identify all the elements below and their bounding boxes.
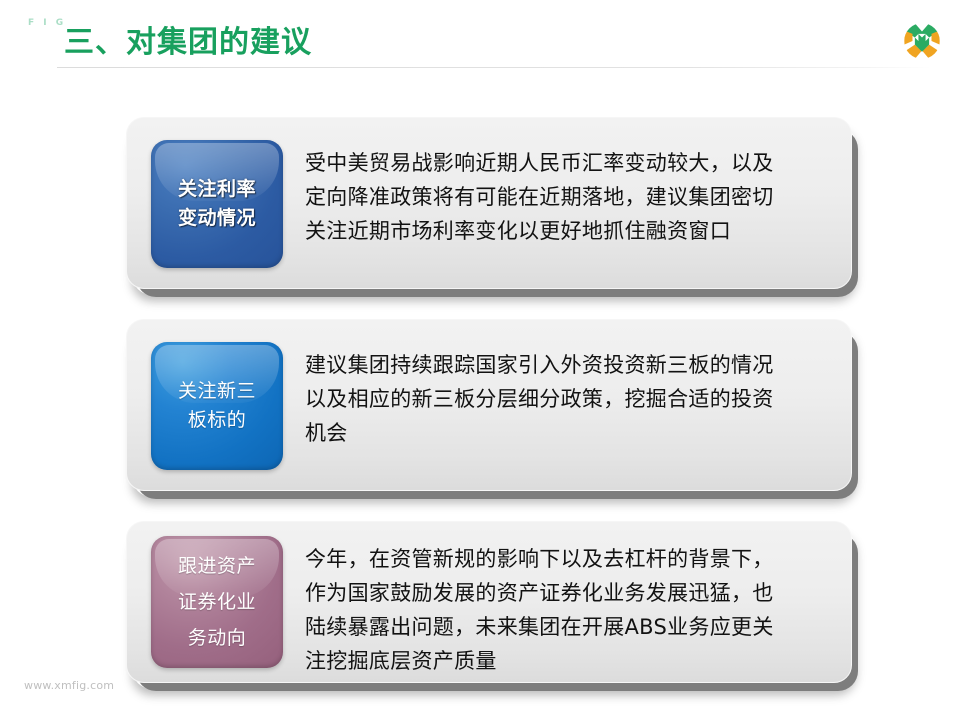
card-body-text-2: 建议集团持续跟踪国家引入外资投资新三板的情况 以及相应的新三板分层细分政策，挖掘… [283,320,851,450]
pinwheel-logo-icon [903,22,941,60]
card-surface-2: 关注新三 板标的 建议集团持续跟踪国家引入外资投资新三板的情况 以及相应的新三板… [126,319,852,491]
recommendation-card-2: 关注新三 板标的 建议集团持续跟踪国家引入外资投资新三板的情况 以及相应的新三板… [126,319,852,491]
card-surface-1: 关注利率 变动情况 受中美贸易战影响近期人民币汇率变动较大，以及 定向降准政策将… [126,117,852,289]
card-body-text-3: 今年，在资管新规的影响下以及去杠杆的背景下， 作为国家鼓励发展的资产证券化业务发… [283,522,851,678]
title-divider [57,67,932,68]
card-body-text-1: 受中美贸易战影响近期人民币汇率变动较大，以及 定向降准政策将有可能在近期落地，建… [283,118,851,248]
card-badge-3[interactable]: 跟进资产 证券化业 务动向 [151,536,283,668]
card-badge-1[interactable]: 关注利率 变动情况 [151,140,283,268]
recommendation-card-1: 关注利率 变动情况 受中美贸易战影响近期人民币汇率变动较大，以及 定向降准政策将… [126,117,852,289]
card-badge-label-1: 关注利率 变动情况 [172,175,262,233]
card-badge-label-2: 关注新三 板标的 [172,377,262,435]
slide-canvas: F I G 三、对集团的建议 [0,0,960,720]
page-title: 三、对集团的建议 [64,24,312,62]
card-badge-2[interactable]: 关注新三 板标的 [151,342,283,470]
fig-watermark-text: F I G [28,18,66,28]
footer-website-url: www.xmfig.com [24,679,114,692]
card-surface-3: 跟进资产 证券化业 务动向 今年，在资管新规的影响下以及去杠杆的背景下， 作为国… [126,521,852,683]
slide-header: F I G 三、对集团的建议 [0,0,960,74]
card-badge-label-3: 跟进资产 证券化业 务动向 [172,548,262,656]
recommendation-card-3: 跟进资产 证券化业 务动向 今年，在资管新规的影响下以及去杠杆的背景下， 作为国… [126,521,852,683]
